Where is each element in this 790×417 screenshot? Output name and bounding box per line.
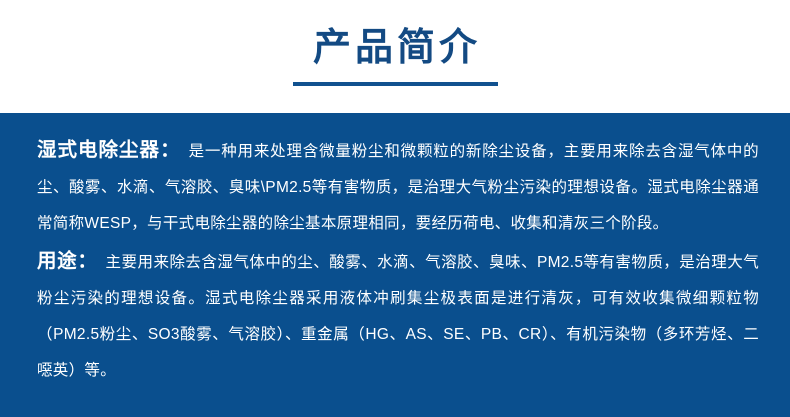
paragraph-body-text: 主要用来除去含湿气体中的尘、酸雾、水滴、气溶胶、臭味、PM2.5等有害物质，是治… — [37, 254, 759, 379]
title-underline-divider — [293, 82, 498, 86]
description-panel: 湿式电除尘器：是一种用来处理含微量粉尘和微颗粒的新除尘设备，主要用来除去含湿气体… — [0, 113, 790, 417]
paragraph-product-definition: 湿式电除尘器：是一种用来处理含微量粉尘和微颗粒的新除尘设备，主要用来除去含湿气体… — [37, 132, 759, 242]
paragraph-lead-label: 用途： — [37, 250, 106, 272]
product-intro-page: 产品简介 湿式电除尘器：是一种用来处理含微量粉尘和微颗粒的新除尘设备，主要用来除… — [0, 0, 790, 417]
page-header: 产品简介 — [0, 0, 790, 113]
paragraph-lead-label: 湿式电除尘器： — [37, 139, 189, 161]
page-title: 产品简介 — [309, 26, 481, 70]
paragraph-product-usage: 用途：主要用来除去含湿气体中的尘、酸雾、水滴、气溶胶、臭味、PM2.5等有害物质… — [37, 243, 759, 389]
